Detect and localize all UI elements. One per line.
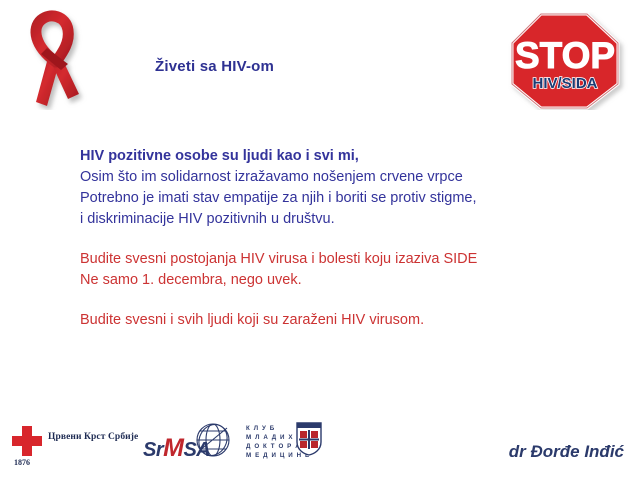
logo-red-cross-serbia: Црвени Крст Србије 1876 bbox=[12, 422, 130, 470]
footer: Црвени Крст Србије 1876 bbox=[0, 414, 638, 479]
body-line: Potrebno je imati stav empatije za njih … bbox=[80, 188, 550, 209]
logo-club-young-doctors: К Л У Б М Л А Д И Х Д О К Т О Р А М Е Д … bbox=[246, 422, 322, 468]
red-cross-icon bbox=[12, 426, 42, 456]
body-line: i diskriminacije HIV pozitivnih u društv… bbox=[80, 209, 550, 230]
author-name: dr Đorđe Inđić bbox=[509, 442, 624, 462]
body-line: Budite svesni i svih ljudi koji su zaraž… bbox=[80, 310, 550, 331]
body-line: HIV pozitivne osobe su ljudi kao i svi m… bbox=[80, 146, 550, 167]
slide: Živeti sa HIV-om STOP HIV/SIDA HIV pozit… bbox=[0, 0, 638, 479]
svg-text:STOP: STOP bbox=[515, 35, 615, 76]
red-cross-year: 1876 bbox=[14, 458, 30, 467]
red-aids-ribbon-icon bbox=[16, 8, 98, 110]
paragraph-3: Budite svesni i svih ljudi koji su zaraž… bbox=[80, 310, 550, 331]
serbian-shield-icon bbox=[296, 422, 322, 456]
srmsa-text-m: M bbox=[163, 434, 183, 462]
srmsa-text-right: SA bbox=[183, 439, 210, 461]
srmsa-wordmark: SrMSA bbox=[143, 434, 210, 463]
svg-text:HIV/SIDA: HIV/SIDA bbox=[532, 75, 597, 92]
body-copy: HIV pozitivne osobe su ljudi kao i svi m… bbox=[80, 146, 550, 331]
paragraph-2: Budite svesni postojanja HIV virusa i bo… bbox=[80, 249, 550, 291]
logo-srmsa: SrMSA bbox=[143, 420, 235, 468]
page-title: Živeti sa HIV-om bbox=[155, 58, 274, 75]
red-cross-label: Црвени Крст Србије bbox=[48, 432, 138, 442]
stop-sign-icon: STOP HIV/SIDA bbox=[508, 12, 628, 110]
body-line: Osim što im solidarnost izražavamo nošen… bbox=[80, 167, 550, 188]
srmsa-text-left: Sr bbox=[143, 439, 163, 461]
body-line: Ne samo 1. decembra, nego uvek. bbox=[80, 270, 550, 291]
body-line: Budite svesni postojanja HIV virusa i bo… bbox=[80, 249, 550, 270]
paragraph-1: HIV pozitivne osobe su ljudi kao i svi m… bbox=[80, 146, 550, 230]
